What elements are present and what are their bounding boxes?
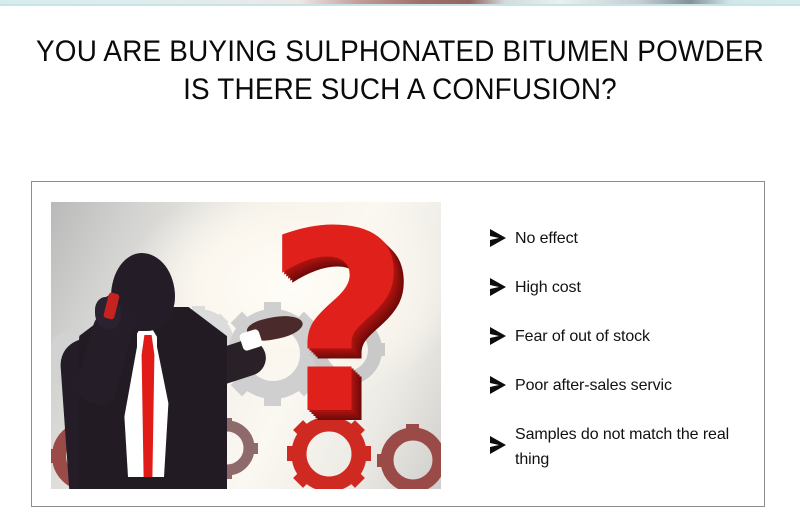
list-item: Samples do not match the real thing — [488, 422, 738, 472]
list-item-label: High cost — [515, 275, 581, 300]
list-item: Poor after-sales servic — [488, 373, 738, 398]
pain-point-list: No effect High cost Fear of out of stock — [488, 226, 738, 472]
list-item: Fear of out of stock — [488, 324, 738, 349]
list-item-label: No effect — [515, 226, 578, 251]
content-frame: ? No effect — [31, 181, 765, 507]
list-item-label: Fear of out of stock — [515, 324, 650, 349]
page-title: YOU ARE BUYING SULPHONATED BITUMEN POWDE… — [28, 33, 772, 109]
chevron-right-icon — [488, 276, 508, 298]
page-title-line-2: IS THERE SUCH A CONFUSION? — [28, 71, 772, 109]
businessman-silhouette — [59, 239, 269, 489]
chevron-right-icon — [488, 325, 508, 347]
chevron-right-icon — [488, 434, 508, 456]
chevron-right-icon — [488, 374, 508, 396]
top-cyan-divider-line — [0, 4, 800, 6]
page-title-line-1: YOU ARE BUYING SULPHONATED BITUMEN POWDE… — [28, 33, 772, 71]
list-item-label: Poor after-sales servic — [515, 373, 672, 398]
illustration-photo: ? — [51, 202, 441, 489]
list-item: No effect — [488, 226, 738, 251]
list-item: High cost — [488, 275, 738, 300]
list-item-label: Samples do not match the real thing — [515, 422, 738, 472]
chevron-right-icon — [488, 227, 508, 249]
